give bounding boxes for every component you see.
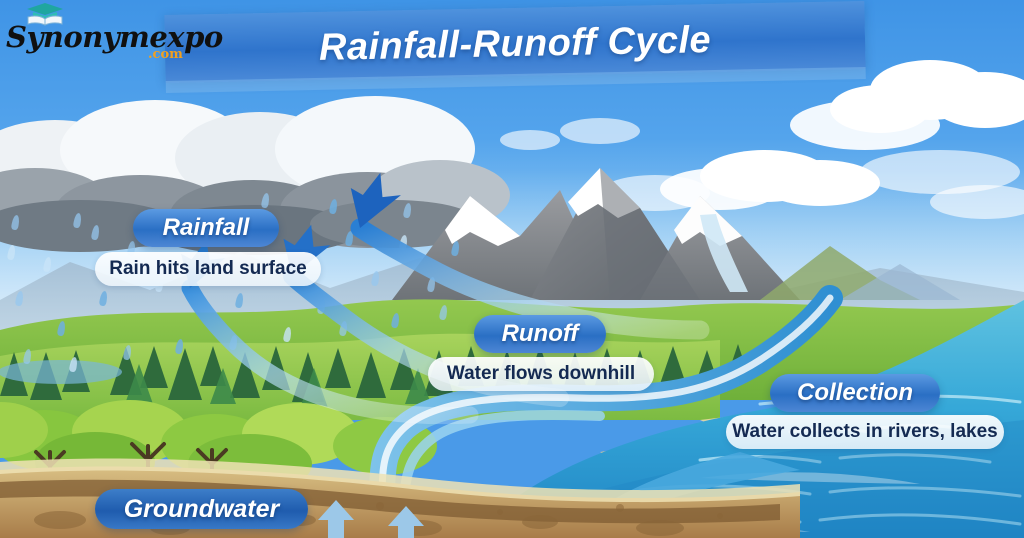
logo-tld: .com xyxy=(148,47,183,62)
description-runoff: Water flows downhill xyxy=(428,357,654,391)
label-runoff: Runoff xyxy=(474,315,606,353)
label-rainfall: Rainfall xyxy=(133,209,279,247)
groundwater-infiltration-arrow-2 xyxy=(386,504,426,538)
label-groundwater: Groundwater xyxy=(95,489,308,529)
logo-wordmark: Synonymexpo xyxy=(6,20,223,54)
label-collection: Collection xyxy=(770,374,940,412)
infographic-canvas: Rainfall-Runoff Cycle Synonymexpo .com R… xyxy=(0,0,1024,538)
description-collection: Water collects in rivers, lakes xyxy=(726,415,1004,449)
description-rainfall: Rain hits land surface xyxy=(95,252,321,286)
groundwater-infiltration-arrows xyxy=(316,498,356,538)
site-logo[interactable]: Synonymexpo .com xyxy=(4,2,194,64)
